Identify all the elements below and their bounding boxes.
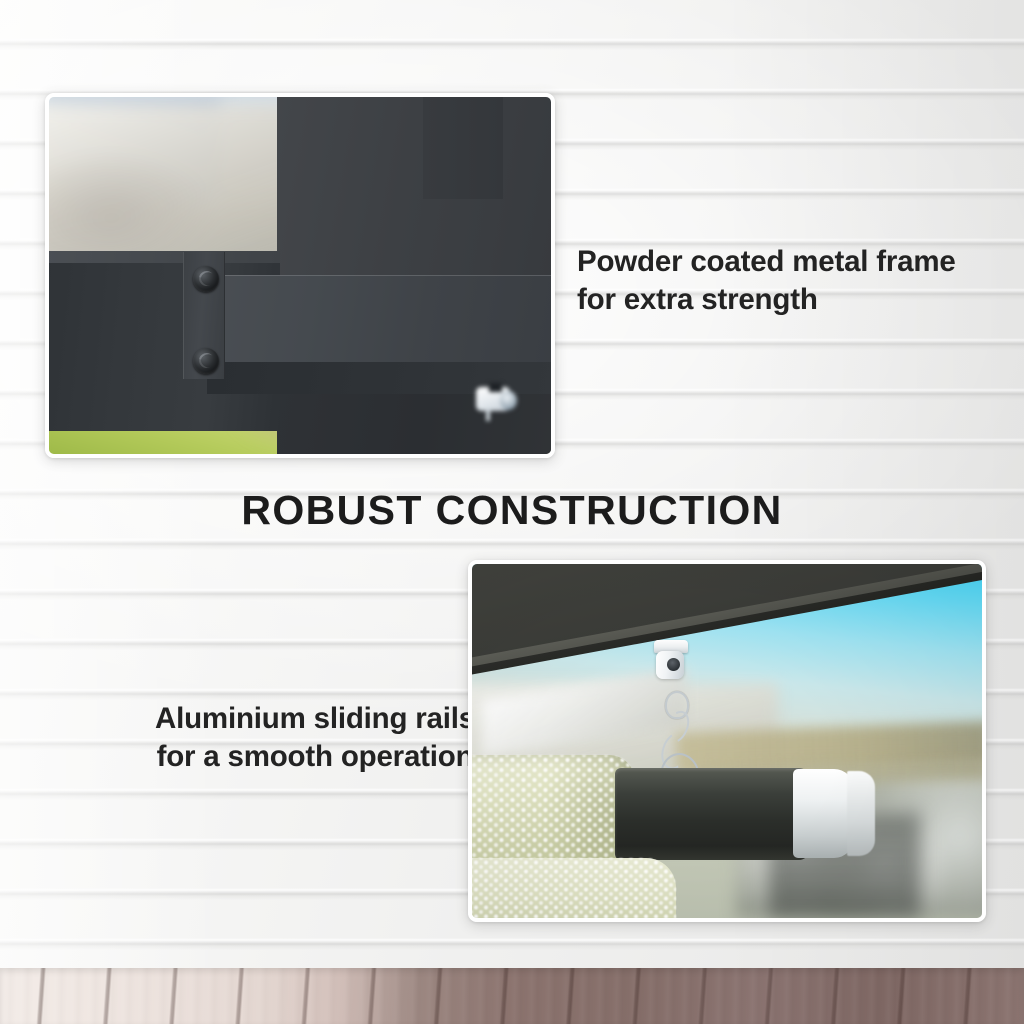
glider-stem	[486, 409, 490, 421]
floor-plank-seams	[0, 968, 1024, 1024]
caption-powder-coated-frame: Powder coated metal frame for extra stre…	[577, 243, 977, 320]
page-title: ROBUST CONSTRUCTION	[0, 487, 1024, 534]
metal-beam-top-edge	[49, 251, 280, 262]
white-glider-clip	[476, 383, 522, 423]
caption2-line2: for a smooth operation	[150, 738, 480, 776]
metal-rail-bar	[207, 275, 551, 364]
infographic-canvas: Powder coated metal frame for extra stre…	[0, 0, 1024, 1024]
carrier-eyelet	[667, 658, 680, 671]
feature-photo-aluminium-sliding-rails	[468, 560, 986, 922]
caption-aluminium-sliding-rails: Aluminium sliding rails for a smooth ope…	[150, 700, 480, 777]
glider-ring	[500, 391, 517, 410]
feature-photo-powder-coated-frame	[45, 93, 555, 458]
canopy-fabric-lower-texture	[472, 858, 676, 918]
sliding-rail-carrier	[654, 640, 688, 686]
glider-notch	[489, 383, 502, 392]
caption2-line1: Aluminium sliding rails	[150, 700, 480, 738]
photo-content-rail-hook	[472, 564, 982, 918]
canopy-tube-end	[793, 769, 854, 858]
caption1-line1: Powder coated metal frame	[577, 243, 977, 281]
metal-post-edge	[423, 97, 503, 199]
canopy-tube-cap	[847, 771, 875, 856]
bolt-upper-icon	[193, 266, 219, 292]
wooden-floor	[0, 968, 1024, 1024]
canopy-tube	[615, 768, 809, 860]
bolt-lower-icon	[193, 348, 219, 374]
caption1-line2: for extra strength	[577, 281, 977, 319]
photo-content-frame-bracket	[49, 97, 551, 454]
